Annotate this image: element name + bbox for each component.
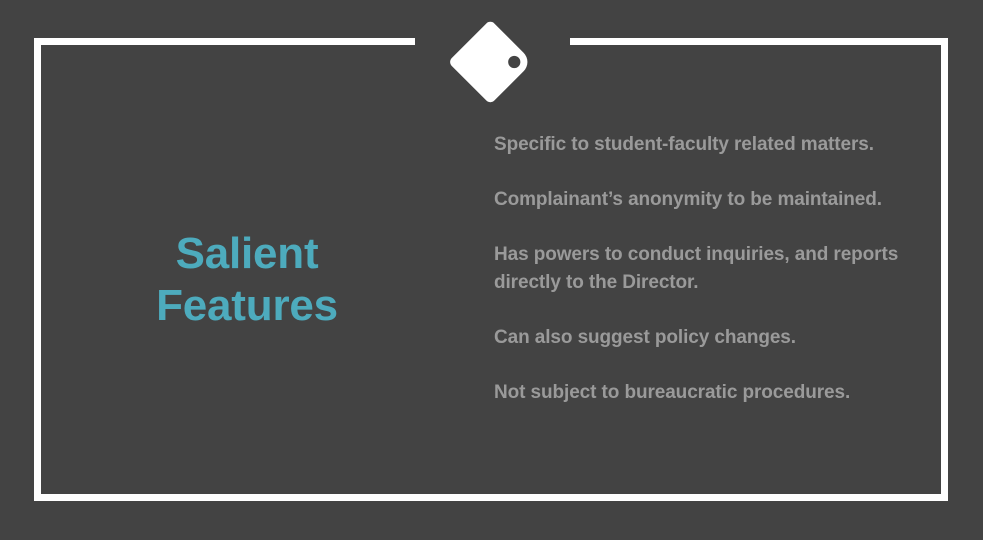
frame-border-left — [34, 38, 41, 501]
page-title-line-2: Features — [60, 280, 434, 332]
frame-border-bottom — [34, 494, 948, 501]
page-title: Salient Features — [60, 228, 434, 332]
page-title-line-1: Salient — [60, 228, 434, 280]
tag-icon — [446, 14, 540, 110]
features-list: Specific to student-faculty related matt… — [494, 131, 924, 407]
frame-border-top-right — [570, 38, 948, 45]
list-item: Can also suggest policy changes. — [494, 324, 924, 352]
list-item: Not subject to bureaucratic procedures. — [494, 379, 924, 407]
frame-border-right — [941, 38, 948, 501]
list-item: Complainant’s anonymity to be maintained… — [494, 186, 924, 214]
frame-border-top-left — [34, 38, 415, 45]
list-item: Has powers to conduct inquiries, and rep… — [494, 241, 924, 297]
slide-canvas: Salient Features Specific to student-fac… — [0, 0, 983, 540]
list-item: Specific to student-faculty related matt… — [494, 131, 924, 159]
